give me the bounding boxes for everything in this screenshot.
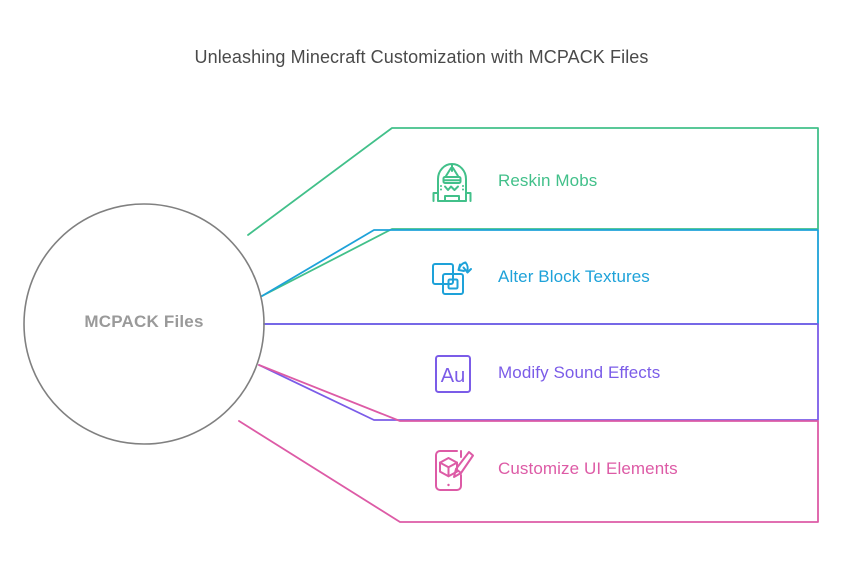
phone-paintbrush-icon: [436, 451, 473, 490]
au-audio-icon: Au: [436, 356, 470, 392]
hub-label: MCPACK Files: [24, 312, 264, 332]
mindmap-diagram: Unleashing Minecraft Customization with …: [0, 0, 843, 566]
branch-icon-group: Au: [433, 164, 473, 490]
svg-text:Au: Au: [441, 365, 465, 387]
diagram-canvas: Au: [0, 0, 843, 566]
branch-label-modify-sound-effects[interactable]: Modify Sound Effects: [498, 363, 660, 383]
branch-label-reskin-mobs[interactable]: Reskin Mobs: [498, 171, 597, 191]
branch-connector-customize-ui-elements: [239, 365, 818, 522]
branch-label-customize-ui-elements[interactable]: Customize UI Elements: [498, 459, 678, 479]
swap-blocks-icon: [433, 263, 471, 295]
monster-head-icon: [434, 164, 471, 201]
branch-label-alter-block-textures[interactable]: Alter Block Textures: [498, 267, 650, 287]
